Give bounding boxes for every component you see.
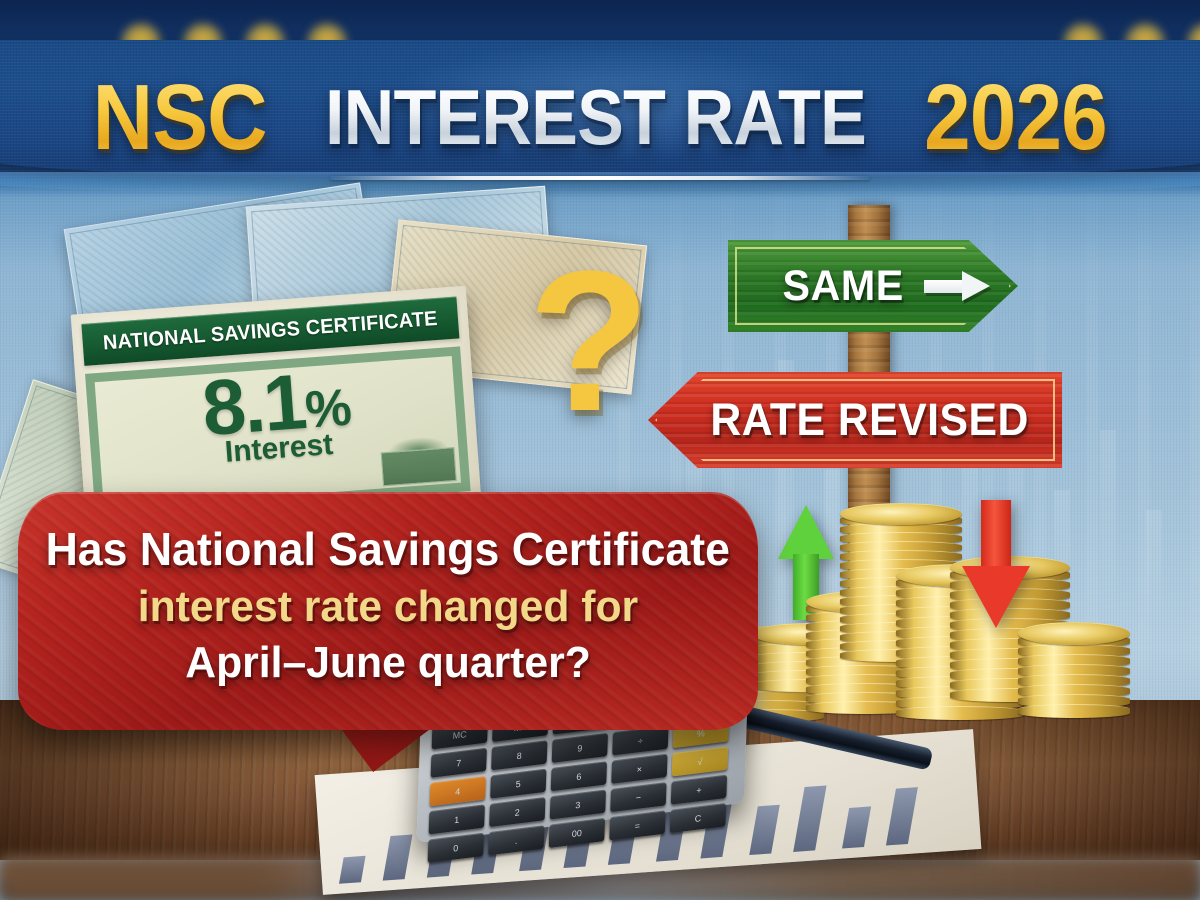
page-title: NSC INTEREST RATE 2026 (0, 62, 1200, 172)
title-nsc: NSC (93, 73, 267, 161)
sign-rate-revised[interactable]: RATE REVISED (648, 372, 1062, 468)
coin (896, 706, 1024, 720)
calculator-key[interactable]: 2 (489, 797, 545, 827)
speech-bubble: Has National Savings Certificate interes… (18, 492, 758, 730)
coin-top-face (840, 503, 962, 525)
title-underline (330, 176, 870, 180)
coin (1018, 704, 1130, 718)
coin-top-face (1018, 622, 1130, 645)
calculator-key[interactable]: 9 (552, 733, 608, 763)
calculator-key[interactable]: 3 (550, 790, 606, 820)
calculator-key[interactable]: × (611, 754, 667, 784)
calculator-key[interactable]: 5 (490, 769, 546, 799)
blurred-gold-glow-shapes (0, 0, 1200, 44)
bubble-line-1: Has National Savings Certificate (46, 522, 730, 576)
speech-bubble-text: Has National Savings Certificate interes… (18, 492, 758, 730)
coin-stack (1018, 622, 1130, 716)
question-mark-icon: ? (528, 262, 650, 422)
infographic-canvas: NSC INTEREST RATE 2026 1500 NATIONAL SAV… (0, 0, 1200, 900)
sign-same-label: SAME (783, 262, 904, 311)
calculator-key[interactable]: − (610, 782, 666, 812)
calculator-key[interactable]: 6 (551, 761, 607, 791)
title-interest-rate: INTEREST RATE (325, 80, 866, 154)
calculator-key[interactable]: √ (672, 746, 728, 776)
sign-rate-revised-label: RATE REVISED (711, 394, 1029, 446)
certificate-rate-label: Interest (224, 428, 335, 470)
bubble-line-2: interest rate changed for (138, 582, 638, 632)
sign-same[interactable]: SAME (728, 240, 1018, 332)
certificate-title: NATIONAL SAVINGS CERTIFICATE (102, 307, 438, 355)
calculator-key[interactable]: + (671, 775, 727, 805)
calculator-key[interactable]: 7 (431, 748, 487, 778)
calculator-key[interactable]: 1 (429, 804, 485, 834)
arrow-right-icon (924, 271, 994, 301)
title-year: 2026 (924, 73, 1107, 161)
calculator-key[interactable]: 8 (491, 740, 547, 770)
calculator-key[interactable]: 4 (430, 776, 486, 806)
bubble-line-3: April–June quarter? (185, 638, 591, 688)
certificate-seal-icon (381, 447, 457, 486)
down-arrow-icon (962, 500, 1030, 628)
